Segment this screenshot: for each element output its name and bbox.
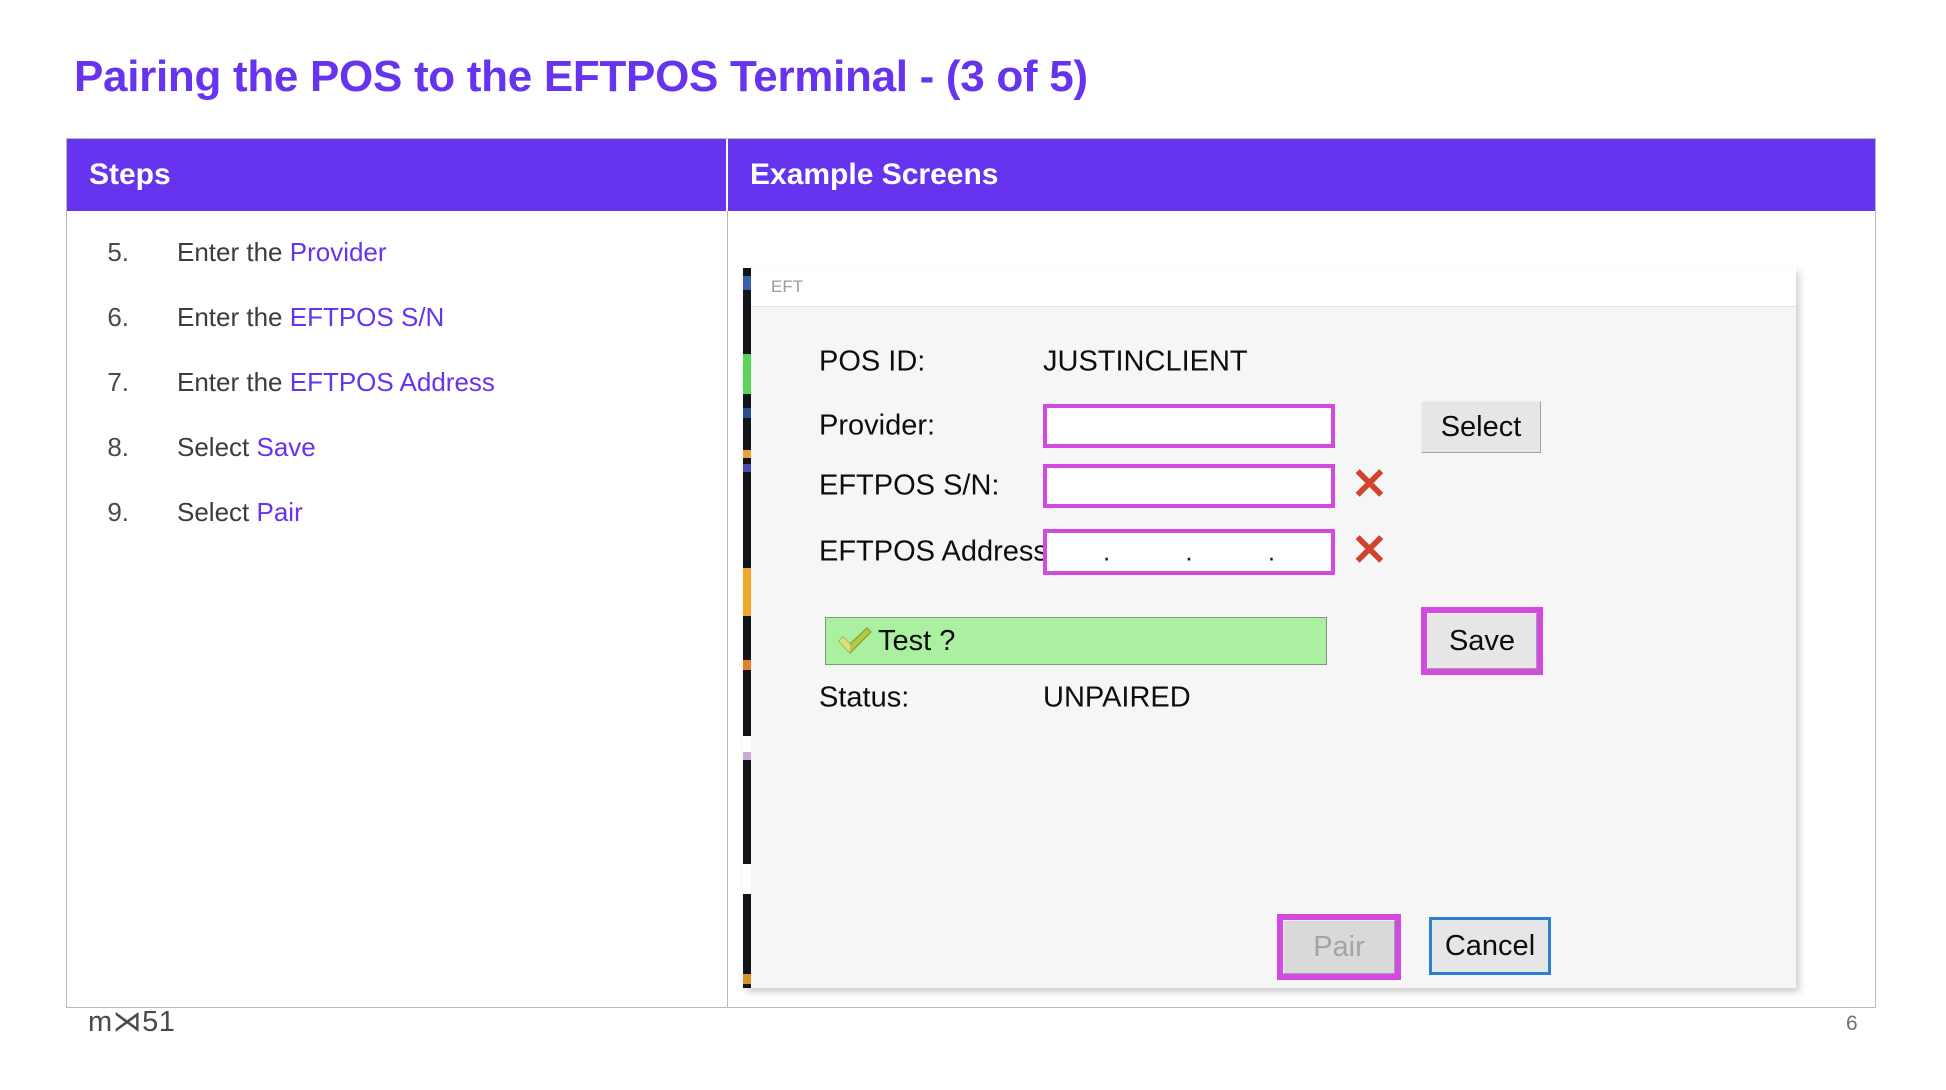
page-title: Pairing the POS to the EFTPOS Terminal -… — [74, 52, 1088, 102]
step-prefix: Select — [177, 497, 257, 527]
step-prefix: Select — [177, 432, 257, 462]
step-number: 7. — [67, 367, 177, 398]
step-highlight: EFTPOS S/N — [290, 302, 445, 332]
table-body-row: 5. Enter the Provider 6. Enter the EFTPO… — [67, 211, 1875, 1007]
provider-label: Provider: — [819, 410, 935, 443]
error-x-icon: ✕ — [1351, 463, 1388, 507]
save-button[interactable]: Save — [1427, 613, 1537, 669]
list-item: 8. Select Save — [67, 432, 727, 463]
check-icon — [834, 621, 874, 661]
eftpos-address-input-value: . . . — [1047, 537, 1331, 568]
step-highlight: Pair — [257, 497, 303, 527]
app-sidebar-strip — [743, 268, 751, 988]
step-text: Enter the Provider — [177, 237, 387, 268]
step-text: Select Pair — [177, 497, 303, 528]
test-checkbox-row[interactable]: Test ? — [825, 617, 1327, 665]
status-row: Status: UNPAIRED — [751, 675, 1796, 721]
list-item: 7. Enter the EFTPOS Address — [67, 367, 727, 398]
cancel-button[interactable]: Cancel — [1429, 917, 1551, 975]
step-text: Select Save — [177, 432, 316, 463]
list-item: 6. Enter the EFTPOS S/N — [67, 302, 727, 333]
test-label: Test ? — [878, 625, 955, 658]
eftpos-serial-input[interactable] — [1043, 464, 1335, 508]
step-number: 6. — [67, 302, 177, 333]
eftpos-address-input[interactable]: . . . — [1043, 529, 1335, 575]
step-text: Enter the EFTPOS S/N — [177, 302, 444, 333]
step-number: 5. — [67, 237, 177, 268]
content-table: Steps Example Screens 5. Enter the Provi… — [66, 138, 1876, 1008]
eftpos-address-row: EFTPOS Address: . . . ✕ — [751, 529, 1796, 575]
eftpos-address-label: EFTPOS Address: — [819, 536, 1056, 569]
page-number: 6 — [1846, 1012, 1858, 1036]
status-label: Status: — [819, 682, 909, 715]
example-screens-cell: EFT POS ID: JUSTINCLIENT Provider: — [728, 211, 1875, 1007]
step-highlight: Save — [257, 432, 316, 462]
step-prefix: Enter the — [177, 302, 290, 332]
dialog-title: EFT — [771, 277, 803, 297]
list-item: 9. Select Pair — [67, 497, 727, 528]
list-item: 5. Enter the Provider — [67, 237, 727, 268]
dialog-body: POS ID: JUSTINCLIENT Provider: Select EF… — [751, 307, 1796, 988]
pos-id-row: POS ID: JUSTINCLIENT — [751, 339, 1796, 385]
eftpos-serial-label: EFTPOS S/N: — [819, 470, 999, 503]
step-highlight: Provider — [290, 237, 387, 267]
table-header-row: Steps Example Screens — [67, 139, 1875, 211]
step-prefix: Enter the — [177, 367, 290, 397]
step-prefix: Enter the — [177, 237, 290, 267]
eft-dialog-screenshot: EFT POS ID: JUSTINCLIENT Provider: — [743, 268, 1796, 988]
step-text: Enter the EFTPOS Address — [177, 367, 495, 398]
status-badge: UNPAIRED — [1043, 682, 1191, 715]
eftpos-serial-row: EFTPOS S/N: ✕ — [751, 463, 1796, 509]
column-header-example-screens: Example Screens — [728, 139, 1875, 211]
pos-id-value: JUSTINCLIENT — [1043, 346, 1248, 379]
step-highlight: EFTPOS Address — [290, 367, 495, 397]
dialog-titlebar: EFT — [751, 268, 1796, 307]
brand-logo: m⋊51 — [88, 1004, 175, 1039]
pair-button[interactable]: Pair — [1283, 920, 1395, 974]
select-button[interactable]: Select — [1421, 401, 1541, 453]
pos-id-label: POS ID: — [819, 346, 925, 379]
steps-cell: 5. Enter the Provider 6. Enter the EFTPO… — [67, 211, 728, 1007]
provider-input[interactable] — [1043, 404, 1335, 448]
column-header-steps: Steps — [67, 139, 728, 211]
error-x-icon: ✕ — [1351, 529, 1388, 573]
step-number: 8. — [67, 432, 177, 463]
step-number: 9. — [67, 497, 177, 528]
provider-row: Provider: Select — [751, 403, 1796, 449]
